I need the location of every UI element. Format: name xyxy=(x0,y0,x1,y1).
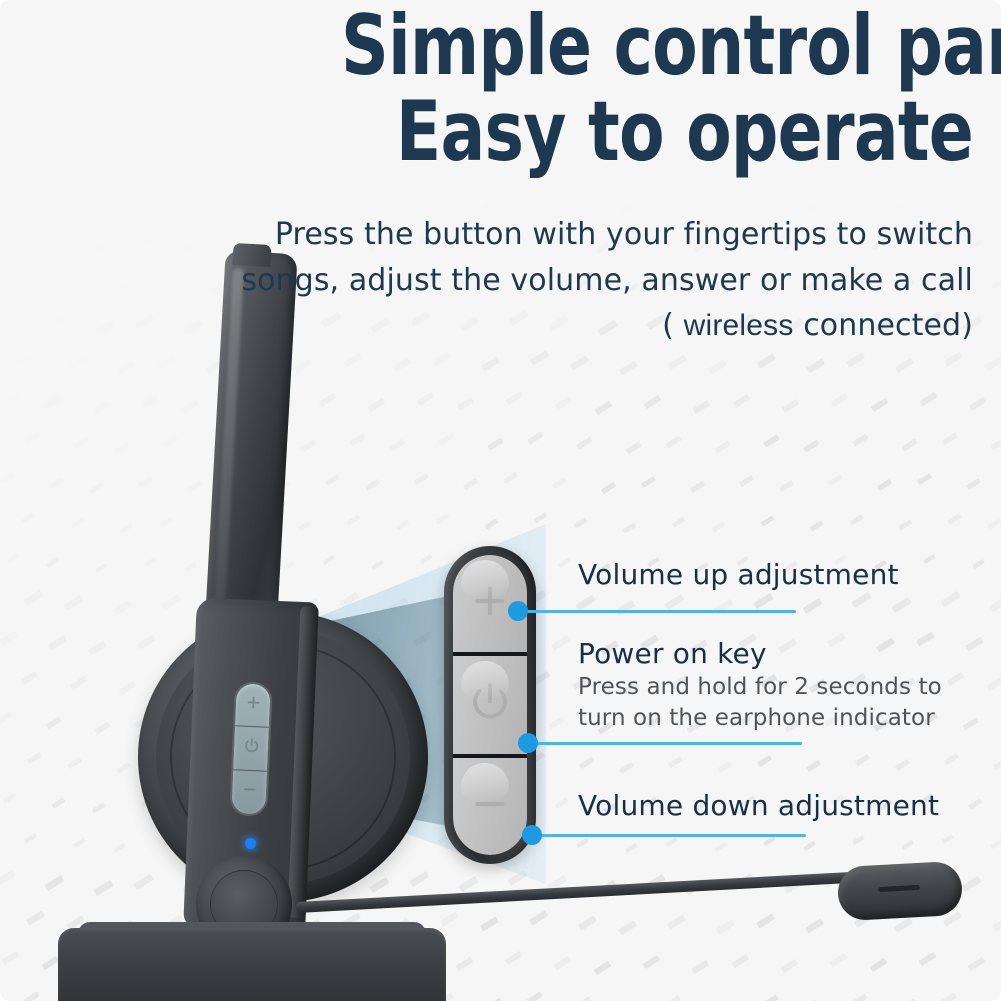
subtitle-wireless-word: wireless xyxy=(684,309,794,342)
power-icon xyxy=(467,679,513,730)
plus-icon xyxy=(467,578,513,629)
subtitle-part-2: connected) xyxy=(794,308,973,343)
callout-power: Power on key Press and hold for 2 second… xyxy=(578,637,942,733)
callout-volume-down: Volume down adjustment xyxy=(578,789,939,823)
subtitle: Press the button with your fingertips to… xyxy=(233,212,973,349)
minus-icon xyxy=(240,781,258,804)
callout-title: Volume down adjustment xyxy=(578,789,939,823)
headset-key-volume-up[interactable] xyxy=(235,683,271,728)
enlarged-control-panel[interactable] xyxy=(444,546,536,864)
headset-key-volume-down[interactable] xyxy=(231,770,267,815)
microphone-capsule xyxy=(837,861,964,922)
charging-base xyxy=(58,928,446,1001)
callout-line-volume-down xyxy=(538,834,806,837)
infographic-stage: Simple control panel Easy to operate Pre… xyxy=(0,0,1001,1001)
control-panel-inner xyxy=(453,555,527,855)
callout-line-power xyxy=(534,742,802,745)
callout-description-line-2: turn on the earphone indicator xyxy=(578,704,942,733)
callout-description-line-1: Press and hold for 2 seconds to xyxy=(578,673,942,702)
panel-key-power[interactable] xyxy=(453,656,527,757)
callout-title: Power on key xyxy=(578,637,942,671)
callout-volume-up: Volume up adjustment xyxy=(578,558,899,592)
callout-dot-power xyxy=(518,733,538,753)
minus-icon xyxy=(467,781,513,832)
callout-line-volume-up xyxy=(524,610,796,613)
callout-title: Volume up adjustment xyxy=(578,558,899,592)
headline-line-2: Easy to operate xyxy=(341,92,973,172)
power-icon xyxy=(242,737,260,760)
microphone-boom-arm xyxy=(296,871,876,913)
heading-block: Simple control panel Easy to operate xyxy=(183,6,973,171)
callout-dot-volume-down xyxy=(522,825,542,845)
callout-dot-volume-up xyxy=(508,601,528,621)
headset-key-power[interactable] xyxy=(233,727,269,772)
headset-control-strip[interactable] xyxy=(229,681,273,816)
panel-key-volume-down[interactable] xyxy=(453,758,527,855)
headline-line-1: Simple control panel xyxy=(341,6,973,86)
plus-icon xyxy=(244,694,262,717)
indicator-led xyxy=(245,838,256,849)
